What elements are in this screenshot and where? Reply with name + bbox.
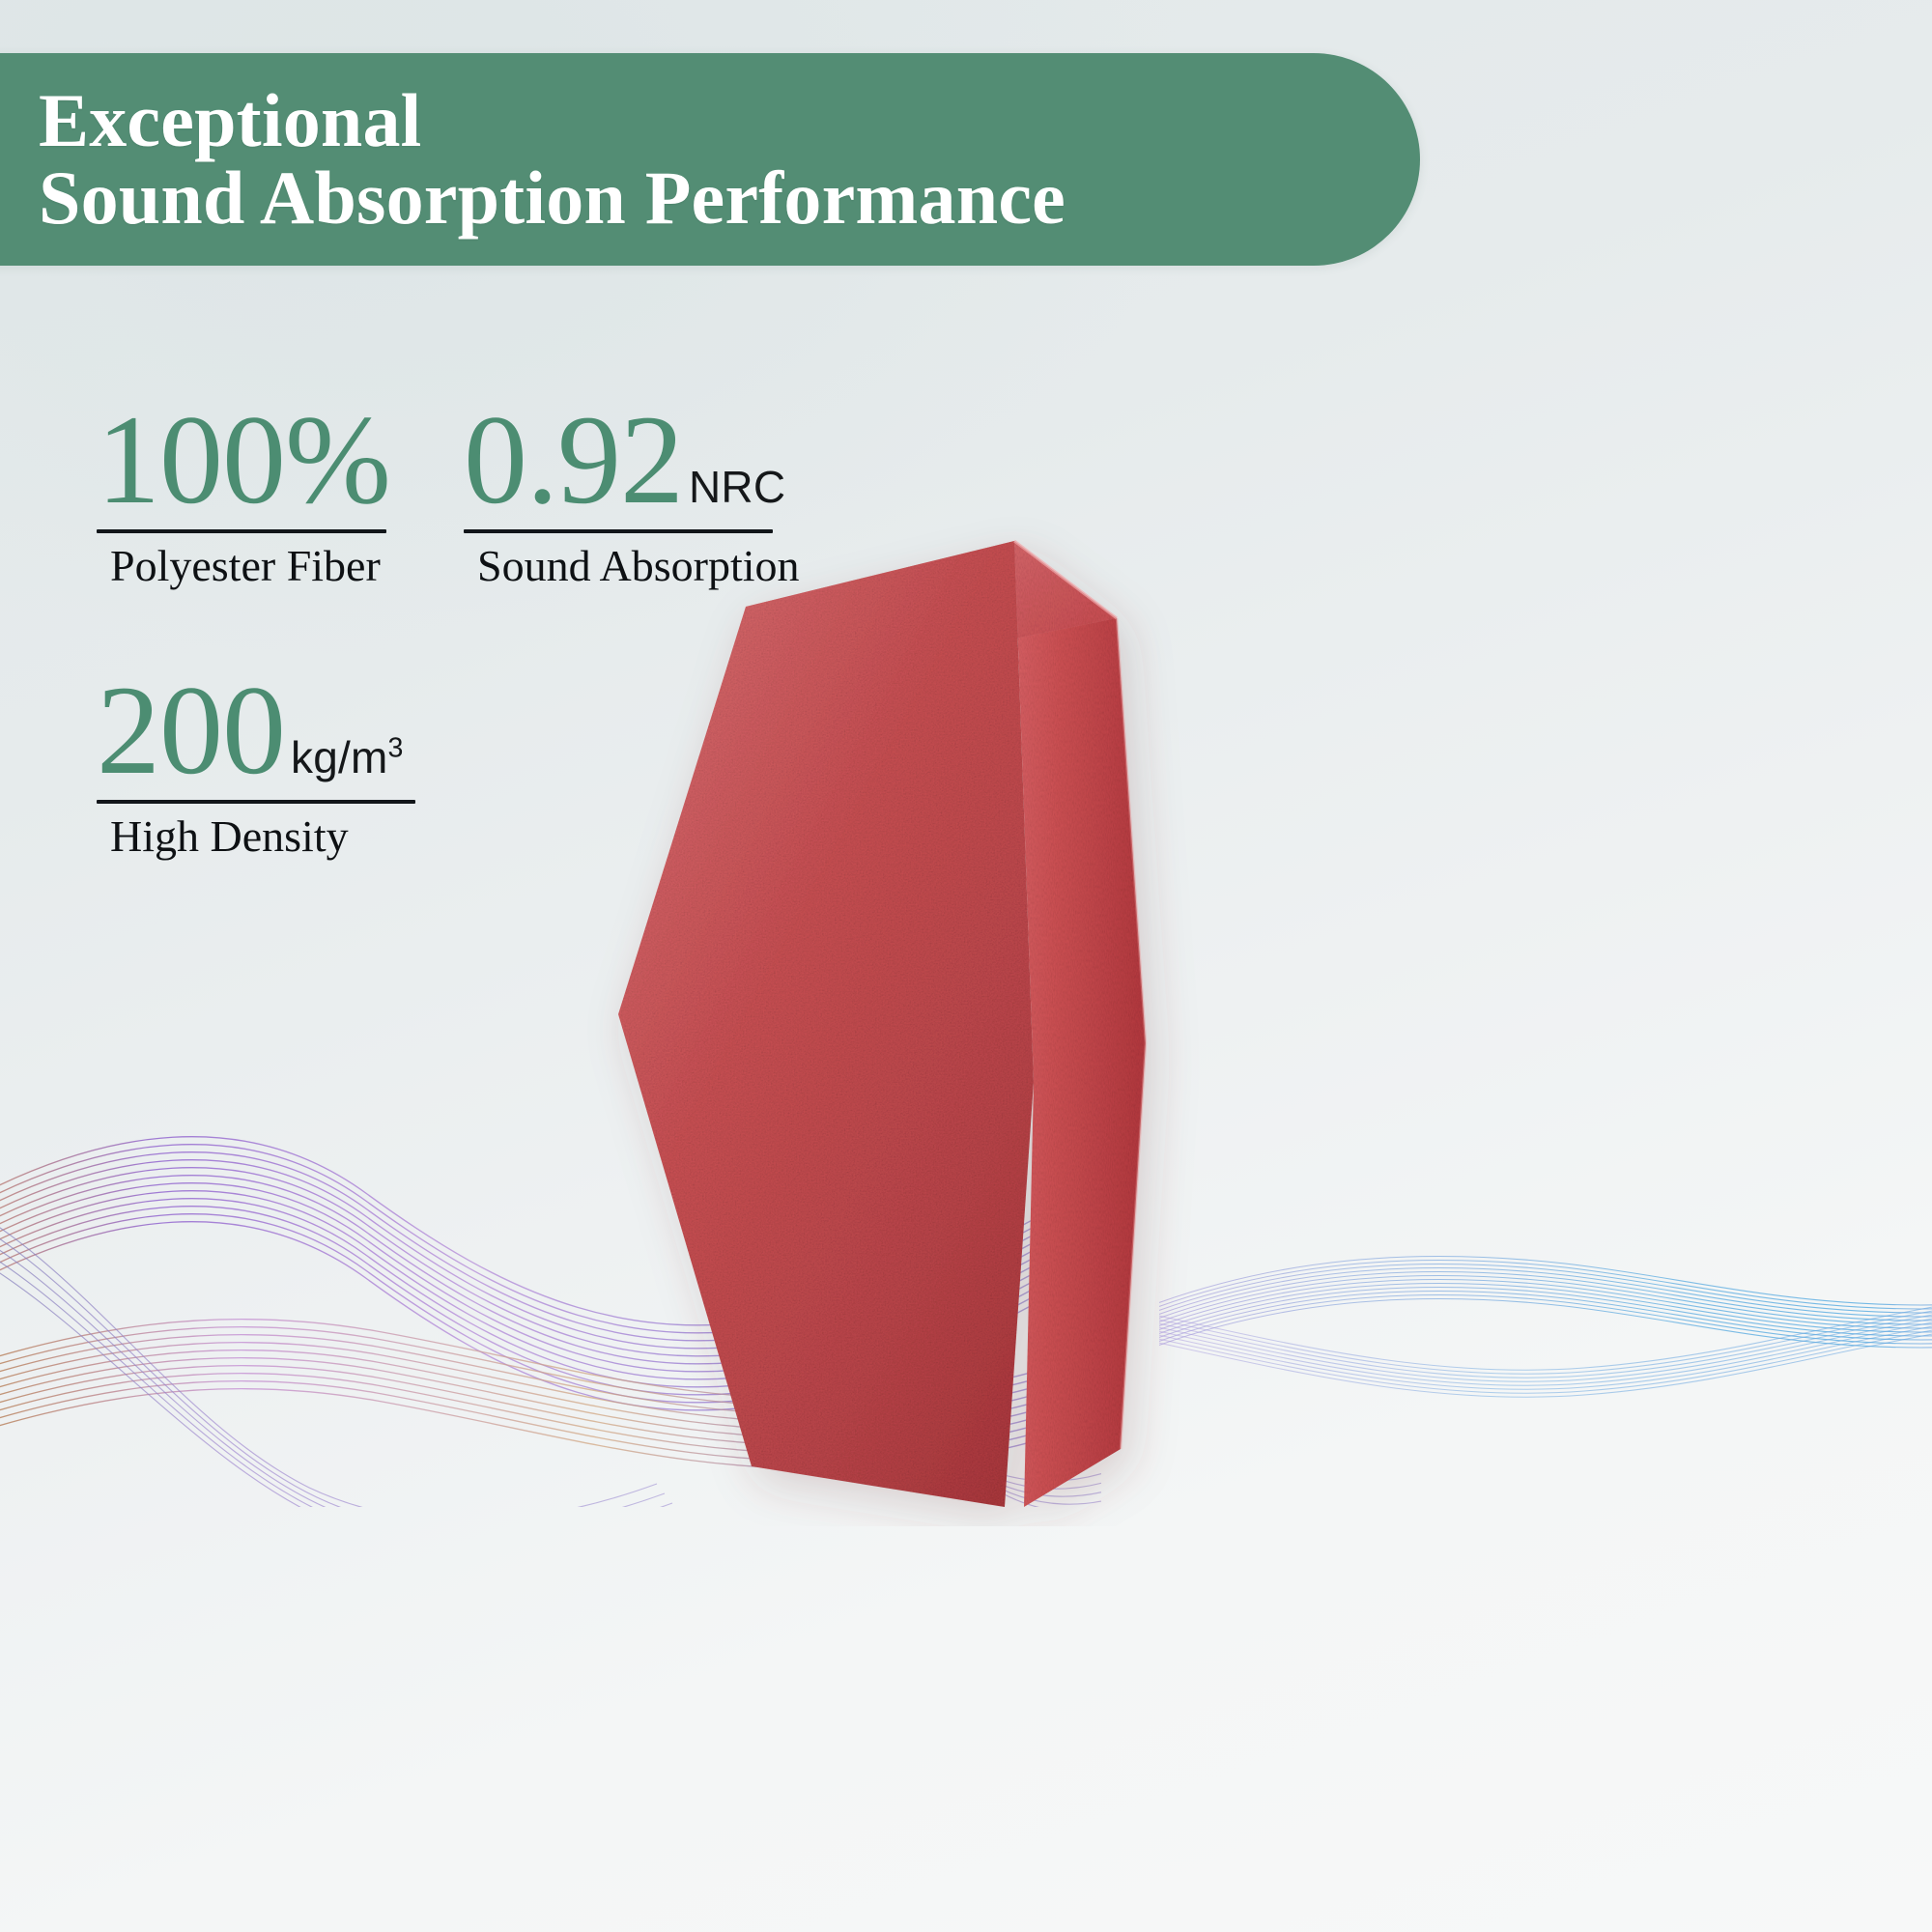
stat-unit-exponent: 3 (387, 733, 403, 764)
header-title-line1: Exceptional (39, 82, 1420, 159)
stat-caption: Polyester Fiber (97, 539, 396, 593)
stat-value-row: 0.92 NRC (464, 396, 800, 524)
honeycomb-pattern (0, 1063, 1932, 1932)
stat-value: 0.92 (464, 396, 683, 524)
header-banner: Exceptional Sound Absorption Performance (0, 53, 1420, 266)
sound-wave-lines-left (0, 1101, 1101, 1507)
stat-value: 200 (97, 667, 285, 794)
stat-sound-absorption: 0.92 NRC Sound Absorption (464, 396, 800, 593)
stat-unit: NRC (689, 465, 785, 509)
sound-wave-lines-right (1159, 1188, 1932, 1439)
stat-polyester-fiber: 100% Polyester Fiber (97, 396, 396, 593)
stat-high-density: 200 kg/m3 High Density (97, 667, 415, 864)
stat-caption: Sound Absorption (464, 539, 800, 593)
header-title-line2: Sound Absorption Performance (39, 159, 1420, 237)
hexagonal-acoustic-panel (580, 502, 1275, 1526)
marketing-infographic: Exceptional Sound Absorption Performance… (0, 0, 1932, 1932)
stat-value-row: 200 kg/m3 (97, 667, 415, 794)
stat-value: 100% (97, 396, 390, 524)
stat-unit-base: kg/m (291, 732, 387, 782)
stat-value-row: 100% (97, 396, 396, 524)
stat-unit: kg/m3 (291, 735, 404, 780)
stat-caption: High Density (97, 810, 415, 864)
